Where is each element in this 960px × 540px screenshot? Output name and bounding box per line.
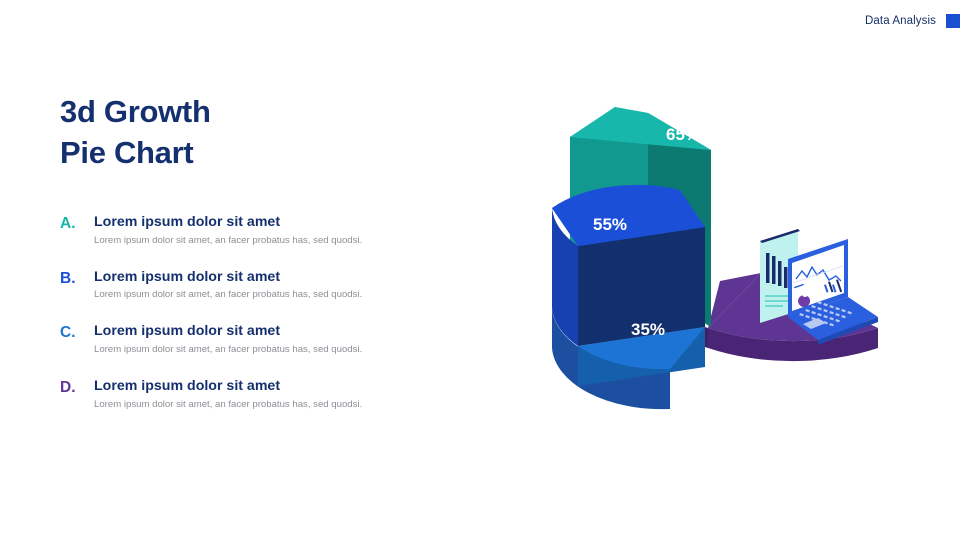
list-item[interactable]: A. Lorem ipsum dolor sit amet Lorem ipsu… xyxy=(60,214,440,248)
pie-slice-b-blue[interactable] xyxy=(552,185,705,346)
document-bar-4 xyxy=(784,267,788,288)
pie-label-55: 55% xyxy=(593,215,627,234)
bullet-heading: Lorem ipsum dolor sit amet xyxy=(94,214,440,232)
document-bar-3 xyxy=(778,261,782,286)
bullet-subtext: Lorem ipsum dolor sit amet, an facer pro… xyxy=(94,399,440,412)
screen-donut-hole xyxy=(802,291,808,297)
brand-strip: Data Analysis xyxy=(865,14,960,28)
pie-chart-3d: 65% 55% 35% 25% xyxy=(520,95,920,475)
bullet-subtext: Lorem ipsum dolor sit amet, an facer pro… xyxy=(94,289,440,302)
document-text-line-2 xyxy=(765,300,791,302)
bullet-subtext: Lorem ipsum dolor sit amet, an facer pro… xyxy=(94,235,440,248)
bullet-subtext: Lorem ipsum dolor sit amet, an facer pro… xyxy=(94,344,440,357)
document-bar-2 xyxy=(772,256,776,284)
page-title: 3d Growth Pie Chart xyxy=(60,92,440,174)
list-item[interactable]: C. Lorem ipsum dolor sit amet Lorem ipsu… xyxy=(60,323,440,357)
pie-chart-svg: 65% 55% 35% 25% xyxy=(520,95,920,475)
page-title-line-1: 3d Growth xyxy=(60,94,211,129)
list-item[interactable]: D. Lorem ipsum dolor sit amet Lorem ipsu… xyxy=(60,378,440,412)
bullet-letter-a: A. xyxy=(60,214,94,234)
left-content-column: 3d Growth Pie Chart A. Lorem ipsum dolor… xyxy=(60,92,440,433)
bullet-heading: Lorem ipsum dolor sit amet xyxy=(94,378,440,396)
pie-label-35: 35% xyxy=(631,320,665,339)
pie-label-65: 65% xyxy=(666,125,700,144)
bullet-body: Lorem ipsum dolor sit amet Lorem ipsum d… xyxy=(94,378,440,412)
brand-square-icon xyxy=(946,14,960,28)
bullet-body: Lorem ipsum dolor sit amet Lorem ipsum d… xyxy=(94,323,440,357)
bullet-heading: Lorem ipsum dolor sit amet xyxy=(94,323,440,341)
bullet-body: Lorem ipsum dolor sit amet Lorem ipsum d… xyxy=(94,214,440,248)
bullet-letter-c: C. xyxy=(60,323,94,343)
pie-label-25: 25% xyxy=(718,355,752,374)
bullet-heading: Lorem ipsum dolor sit amet xyxy=(94,269,440,287)
document-text-line-3 xyxy=(765,305,783,307)
bullet-letter-d: D. xyxy=(60,378,94,398)
bullet-letter-b: B. xyxy=(60,269,94,289)
page-title-line-2: Pie Chart xyxy=(60,133,440,174)
bullet-body: Lorem ipsum dolor sit amet Lorem ipsum d… xyxy=(94,269,440,303)
document-bar-1 xyxy=(766,253,770,283)
document-text-line-1 xyxy=(765,295,791,297)
list-item[interactable]: B. Lorem ipsum dolor sit amet Lorem ipsu… xyxy=(60,269,440,303)
brand-label: Data Analysis xyxy=(865,15,936,27)
bullet-list: A. Lorem ipsum dolor sit amet Lorem ipsu… xyxy=(60,214,440,412)
pie-slice-d-edge xyxy=(705,327,708,348)
